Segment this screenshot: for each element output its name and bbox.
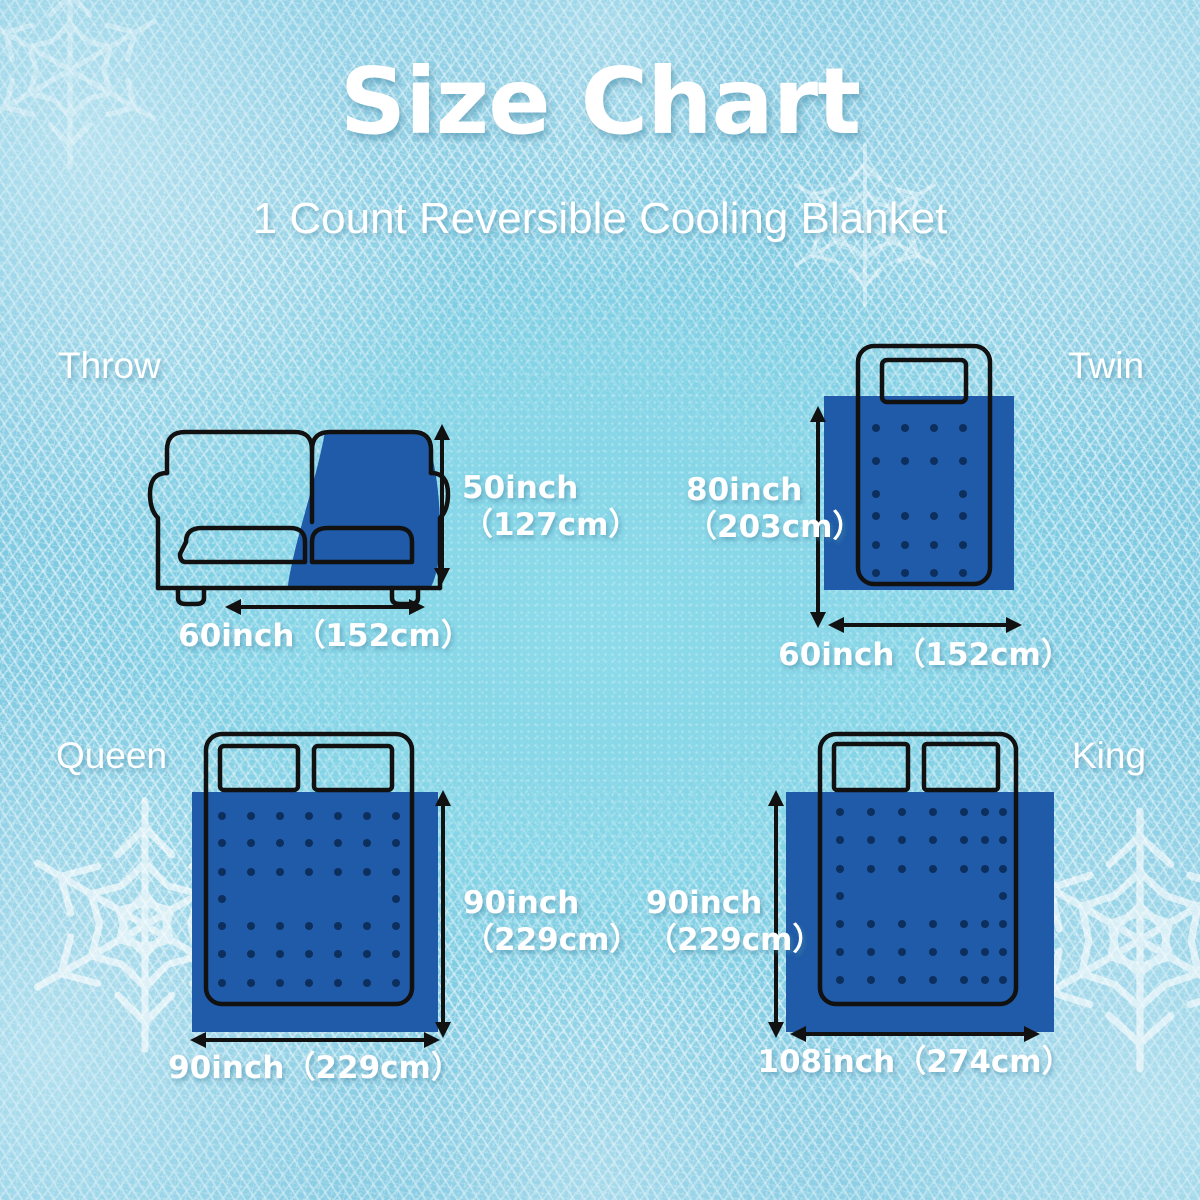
size-label-twin: Twin [1068, 345, 1144, 387]
illustration-queen-bed [186, 730, 446, 1040]
dimension-height-queen-cm: （229cm） [463, 922, 640, 959]
size-label-throw: Throw [58, 345, 161, 387]
dimension-width-twin: 60inch（152cm） [760, 637, 1090, 674]
dimension-height-throw-cm: （127cm） [462, 507, 639, 544]
dimension-arrow-horizontal-twin [828, 613, 1022, 637]
dimension-height-throw-inch: 50inch [462, 470, 639, 507]
dimension-height-queen-inch: 90inch [463, 885, 640, 922]
dimension-arrow-horizontal-queen [190, 1028, 440, 1052]
dimension-height-king-inch: 90inch [646, 885, 752, 922]
dimension-arrow-vertical-king [758, 790, 794, 1038]
illustration-king-bed [780, 730, 1060, 1040]
dimension-height-twin-inch: 80inch [686, 472, 796, 509]
dimension-arrow-horizontal-throw [225, 595, 425, 619]
dimension-width-queen: 90inch（229cm） [150, 1050, 480, 1087]
dimension-height-twin: 80inch （203cm） [686, 472, 796, 545]
dimension-arrow-vertical-throw [424, 424, 460, 584]
dimension-arrow-vertical-queen [425, 790, 461, 1038]
page-title: Size Chart [0, 48, 1200, 155]
dimension-arrow-horizontal-king [790, 1022, 1040, 1046]
size-label-queen: Queen [56, 735, 167, 777]
page-subtitle: 1 Count Reversible Cooling Blanket [0, 194, 1200, 244]
dimension-height-king: 90inch （229cm） [646, 885, 752, 958]
dimension-height-queen: 90inch （229cm） [463, 885, 640, 958]
dimension-height-twin-cm: （203cm） [686, 509, 796, 546]
dimension-width-king: 108inch（274cm） [750, 1044, 1080, 1081]
size-chart-infographic: Size Chart 1 Count Reversible Cooling Bl… [0, 0, 1200, 1200]
dimension-height-throw: 50inch （127cm） [462, 470, 639, 543]
dimension-width-throw: 60inch（152cm） [160, 618, 490, 655]
dimension-height-king-cm: （229cm） [646, 922, 752, 959]
illustration-twin-bed [808, 340, 1038, 620]
illustration-throw-sofa [140, 410, 470, 610]
size-label-king: King [1072, 735, 1146, 777]
